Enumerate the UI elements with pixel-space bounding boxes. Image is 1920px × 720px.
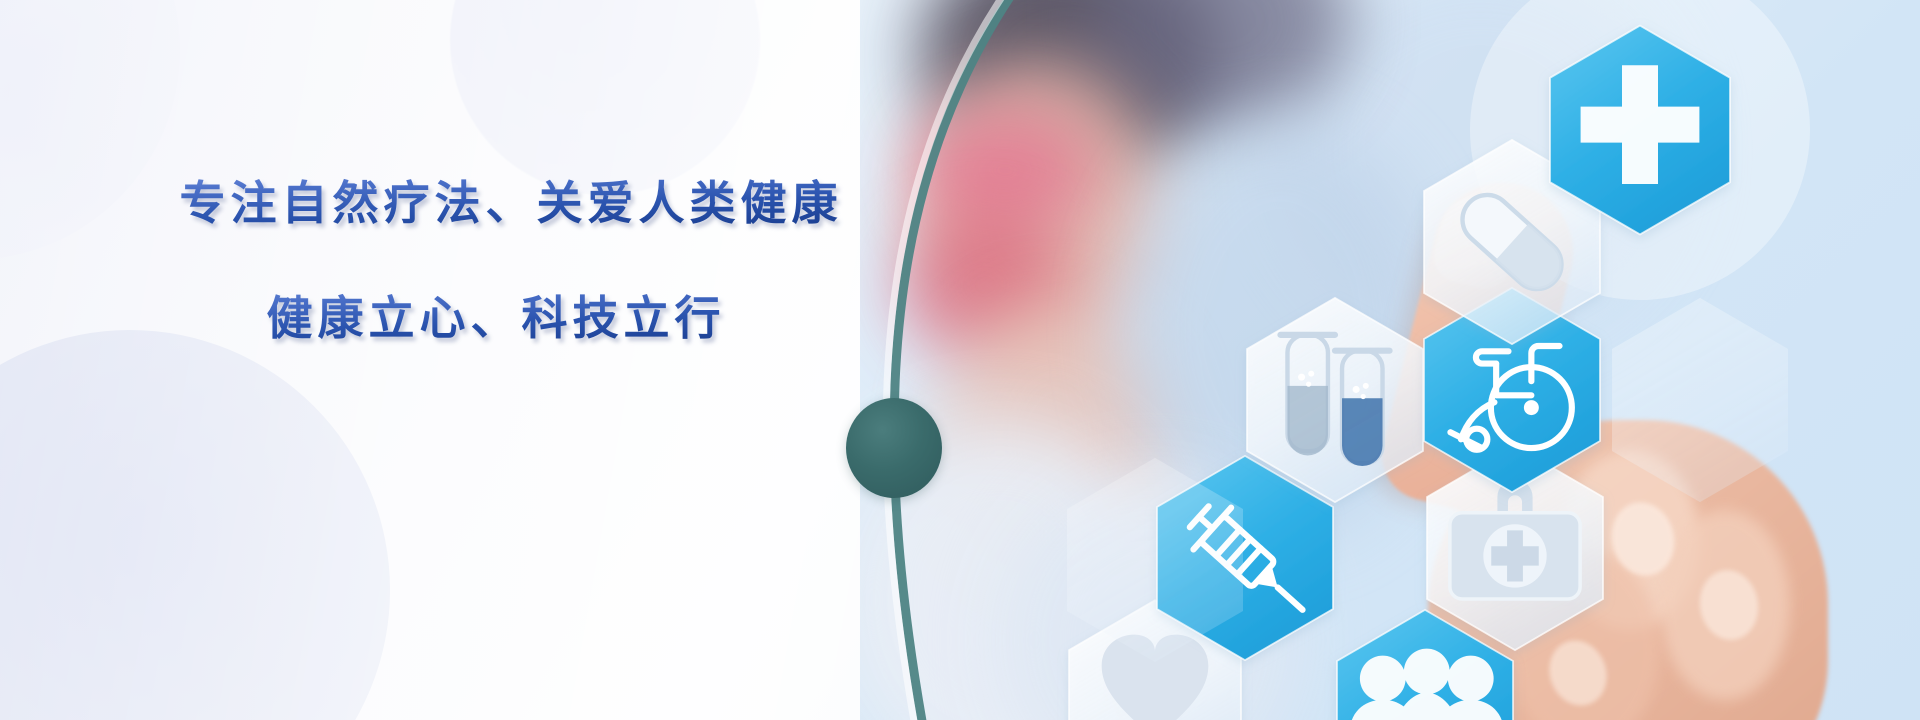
background-veil bbox=[0, 0, 980, 720]
headline-line-2: 健康立心、科技立行 bbox=[0, 293, 1040, 344]
headline-block: 专注自然疗法、关爱人类健康 健康立心、科技立行 bbox=[0, 178, 1040, 343]
pointing-hand bbox=[1260, 120, 1920, 720]
decor-circle-bottom-left bbox=[0, 330, 390, 720]
health-banner: 专注自然疗法、关爱人类健康 健康立心、科技立行 bbox=[0, 0, 1920, 720]
doctor-photo bbox=[860, 0, 1920, 720]
teal-dot bbox=[846, 398, 942, 498]
headline-line-1: 专注自然疗法、关爱人类健康 bbox=[0, 178, 1040, 229]
decor-circle-top bbox=[450, 0, 760, 195]
